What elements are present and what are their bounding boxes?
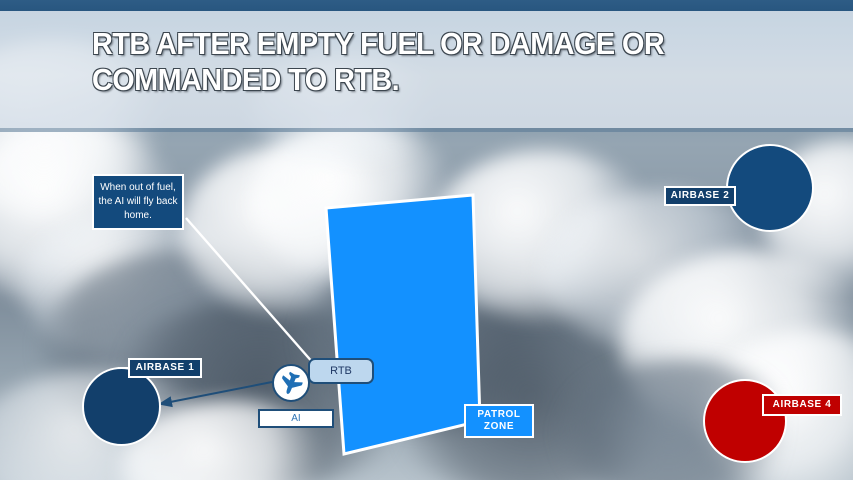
airbase-4-label[interactable]: AIRBASE 4: [762, 394, 842, 416]
ai-label-text: AI: [291, 413, 300, 424]
rtb-state-label: RTB: [330, 365, 352, 377]
patrol-zone-label-line2: ZONE: [484, 421, 514, 433]
slide-canvas: RTB AFTER EMPTY FUEL OR DAMAGE OR COMMAN…: [0, 0, 853, 480]
airbase-4-marker[interactable]: [703, 379, 787, 463]
ai-label[interactable]: AI: [258, 409, 334, 428]
fighter-jet-glyph: [278, 370, 304, 396]
airbase-1-label[interactable]: AIRBASE 1: [128, 358, 202, 378]
patrol-zone-shape[interactable]: [326, 195, 480, 454]
rtb-state-callout[interactable]: RTB: [308, 358, 374, 384]
fighter-jet-icon[interactable]: [272, 364, 310, 402]
header-top-stripe: [0, 0, 853, 11]
fuel-callout-text: When out of fuel, the AI will fly back h…: [98, 181, 178, 223]
airbase-1-marker[interactable]: [82, 367, 161, 446]
header-bottom-stripe: [0, 128, 853, 132]
airbase-2-label[interactable]: AIRBASE 2: [664, 186, 736, 206]
patrol-zone-label-line1: PATROL: [477, 409, 520, 421]
airbase-2-marker[interactable]: [726, 144, 814, 232]
page-title: RTB AFTER EMPTY FUEL OR DAMAGE OR COMMAN…: [92, 26, 743, 98]
fuel-callout-note: When out of fuel, the AI will fly back h…: [92, 174, 184, 230]
patrol-zone-label[interactable]: PATROL ZONE: [464, 404, 534, 438]
